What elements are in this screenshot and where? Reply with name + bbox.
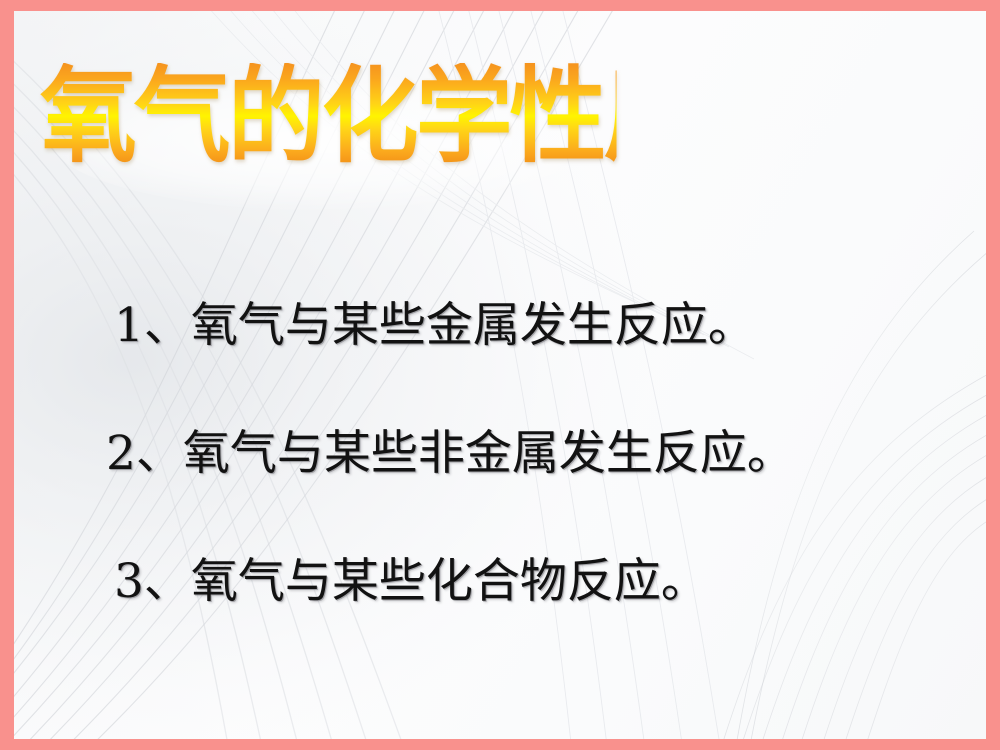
bullet-line-2: 2、氧气与某些非金属发生反应。 — [14, 389, 986, 517]
title-block: 氧气的化学性质： — [40, 63, 660, 223]
bullet-line-1-text: 1、氧气与某些金属发生反应。 — [114, 302, 755, 349]
slide-canvas: 氧气的化学性质： 1、氧气与某些金属发生反应。 2、氧气与某些非金属发生反应。 … — [14, 11, 986, 739]
body-content: 1、氧气与某些金属发生反应。 2、氧气与某些非金属发生反应。 3、氧气与某些化合… — [14, 261, 986, 645]
bullet-line-2-text: 2、氧气与某些非金属发生反应。 — [106, 430, 794, 477]
presentation-slide: 氧气的化学性质： 1、氧气与某些金属发生反应。 2、氧气与某些非金属发生反应。 … — [0, 0, 1000, 750]
page-title: 氧气的化学性质： — [40, 63, 617, 169]
bullet-line-3: 3、氧气与某些化合物反应。 — [14, 517, 986, 645]
bullet-line-3-text: 3、氧气与某些化合物反应。 — [114, 558, 708, 605]
bullet-line-1: 1、氧气与某些金属发生反应。 — [14, 261, 986, 389]
